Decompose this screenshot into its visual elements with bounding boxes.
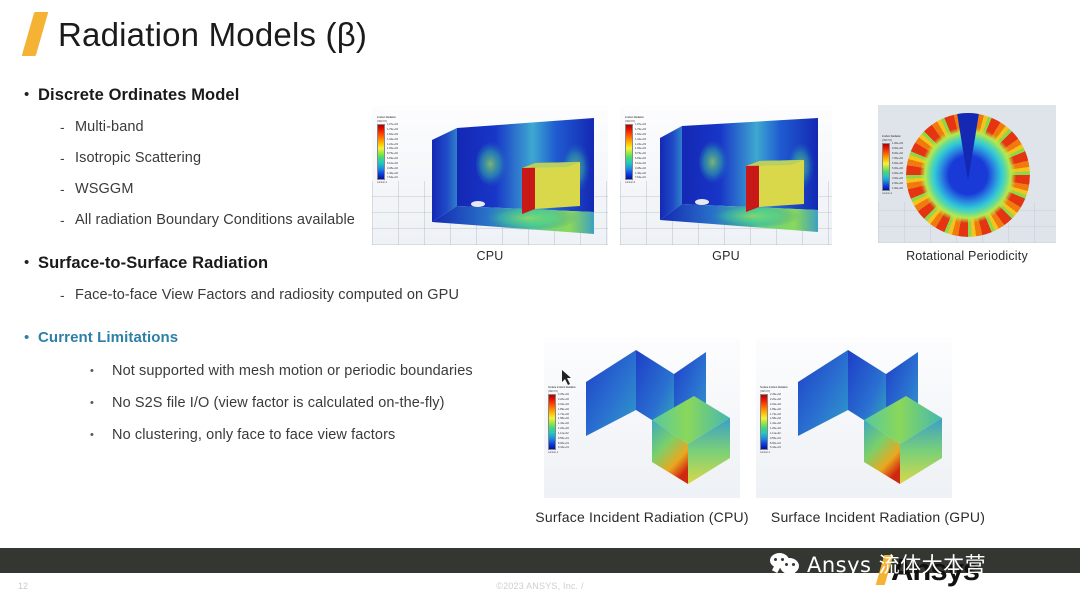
legend-tick: 3.28e+02 <box>635 168 646 171</box>
colorbar-legend-rotational: Incident Radiation [ W/m^2 ] 1.00e+03 9.… <box>882 135 903 195</box>
legend-tick: 1.26e+02 <box>558 428 569 431</box>
legend-tick: 2.00e+02 <box>892 183 903 186</box>
legend-tick: 1.60e+03 <box>635 134 646 137</box>
legend-tick: 5.10e+02 <box>635 163 646 166</box>
legend-tick: 1.26e+02 <box>770 428 781 431</box>
figure-caption-cpu: CPU <box>372 249 608 263</box>
limitation-item-s2s-file-io: • No S2S file I/O (view factor is calcul… <box>90 393 544 413</box>
bullet-item-label: Isotropic Scattering <box>75 148 201 168</box>
legend-tick: 1.11e+02 <box>558 433 569 436</box>
legend-tick: 1.42e+03 <box>387 139 398 142</box>
legend-colorbar <box>548 394 556 450</box>
legend-tick: 1.42e+02 <box>770 423 781 426</box>
legend-tick: 6.93e+02 <box>387 158 398 161</box>
legend-title: Surface Incident Radiation <box>760 386 788 389</box>
wechat-watermark: Ansys 流体大本营 <box>770 549 986 579</box>
legend-tick: 6.44e+01 <box>770 447 781 450</box>
legend-tick: 1.60e+03 <box>387 134 398 137</box>
legend-tick: 1.73e+02 <box>770 414 781 417</box>
legend-tick: 6.44e+01 <box>558 447 569 450</box>
bullet-heading-label: Discrete Ordinates Model <box>38 84 239 106</box>
bullet-dot-icon: • <box>24 327 38 349</box>
figure-surface-incident-cpu: Surface Incident Radiation [ W/m^2 ] 2.3… <box>544 338 740 498</box>
legend-ticks: 1.00e+03 9.00e+02 8.00e+02 7.00e+02 6.00… <box>892 143 903 191</box>
bullet-dot-icon: • <box>24 252 38 274</box>
legend-tick: 2.20e+02 <box>770 399 781 402</box>
page-title: Radiation Models (β) <box>58 18 367 51</box>
sub-bullet-dot-icon: • <box>90 393 112 413</box>
bullet-item-label: Multi-band <box>75 117 144 137</box>
slide-title-row: Radiation Models (β) <box>28 12 367 56</box>
legend-ticks: 2.35e+02 2.20e+02 2.04e+02 1.89e+02 1.73… <box>558 394 569 450</box>
legend-tick: 5.10e+02 <box>387 163 398 166</box>
colorbar-legend-cpu: Incident Radiation [ W/m^2 ] 1.97e+03 1.… <box>377 116 398 184</box>
legend-tick: 8.00e+01 <box>558 443 569 446</box>
legend-tick: 3.00e+02 <box>892 178 903 181</box>
bullet-item-label: All radiation Boundary Conditions availa… <box>75 210 355 230</box>
legend-tick: 4.00e+02 <box>892 173 903 176</box>
limitation-label: Not supported with mesh motion or period… <box>112 361 473 381</box>
figure-gpu-room: Incident Radiation [ W/m^2 ] 1.97e+03 1.… <box>620 106 832 245</box>
dash-glyph-icon: - <box>60 285 75 305</box>
legend-tick: 2.35e+02 <box>558 394 569 397</box>
legend-colorbar <box>760 394 768 450</box>
legend-tick: 1.06e+03 <box>635 148 646 151</box>
legend-ticks: 2.35e+02 2.20e+02 2.04e+02 1.89e+02 1.73… <box>770 394 781 450</box>
legend-tick: 1.58e+02 <box>770 418 781 421</box>
legend-tick: 6.93e+02 <box>635 158 646 161</box>
legend-tick: 1.00e+03 <box>892 143 903 146</box>
legend-tick: 1.97e+03 <box>635 124 646 127</box>
colorbar-legend-gpu: Incident Radiation [ W/m^2 ] 1.97e+03 1.… <box>625 116 646 184</box>
figure-caption-surface-incident-gpu: Surface Incident Radiation (GPU) <box>756 509 1000 525</box>
slide-canvas: Radiation Models (β) • Discrete Ordinate… <box>0 0 1080 608</box>
wechat-icon <box>770 553 800 575</box>
legend-colorbar <box>882 143 890 191</box>
legend-tick: 5.00e+02 <box>892 168 903 171</box>
legend-tick: 7.00e+02 <box>892 158 903 161</box>
legend-ticks: 1.97e+03 1.79e+03 1.60e+03 1.42e+03 1.24… <box>387 124 398 180</box>
legend-tick: 7.64e+01 <box>387 177 398 180</box>
legend-tick: 1.58e+02 <box>558 418 569 421</box>
legend-tick: 8.75e+02 <box>635 153 646 156</box>
legend-tick: 9.55e+01 <box>770 438 781 441</box>
gpu-room-render <box>620 106 832 245</box>
legend-tick: 8.75e+02 <box>387 153 398 156</box>
legend-tick: 2.35e+02 <box>770 394 781 397</box>
legend-title: Surface Incident Radiation <box>548 386 576 389</box>
cpu-room-render <box>372 106 608 245</box>
legend-tick: 1.24e+03 <box>387 144 398 147</box>
dash-glyph-icon: - <box>60 117 75 137</box>
legend-footer: contour-2 <box>625 181 646 184</box>
figure-caption-gpu: GPU <box>620 249 832 263</box>
legend-footer: contour-1 <box>548 451 576 454</box>
legend-tick: 1.79e+03 <box>387 129 398 132</box>
dash-glyph-icon: - <box>60 179 75 199</box>
bullet-item-label: Face-to-face View Factors and radiosity … <box>75 285 459 305</box>
sub-bullet-dot-icon: • <box>90 361 112 381</box>
legend-tick: 1.06e+03 <box>387 148 398 151</box>
legend-tick: 1.73e+02 <box>558 414 569 417</box>
legend-tick: 2.20e+02 <box>558 399 569 402</box>
legend-tick: 1.89e+02 <box>770 409 781 412</box>
legend-tick: 1.46e+02 <box>387 173 398 176</box>
figure-caption-rotational-periodicity: Rotational Periodicity <box>878 249 1056 263</box>
legend-tick: 8.00e+02 <box>892 153 903 156</box>
legend-tick: 1.11e+02 <box>770 433 781 436</box>
bullet-item-label: WSGGM <box>75 179 134 199</box>
legend-tick: 2.04e+02 <box>558 404 569 407</box>
legend-title: Incident Radiation <box>625 116 646 119</box>
legend-tick: 1.46e+02 <box>635 173 646 176</box>
dash-glyph-icon: - <box>60 148 75 168</box>
limitation-item-mesh-motion: • Not supported with mesh motion or peri… <box>90 361 544 381</box>
legend-tick: 8.00e+01 <box>770 443 781 446</box>
legend-colorbar <box>625 124 633 180</box>
colorbar-legend-surface-cpu: Surface Incident Radiation [ W/m^2 ] 2.3… <box>548 386 576 454</box>
bullet-item-view-factors: - Face-to-face View Factors and radiosit… <box>60 285 544 305</box>
figure-cpu-room: Incident Radiation [ W/m^2 ] 1.97e+03 1.… <box>372 106 608 245</box>
legend-tick: 1.79e+03 <box>635 129 646 132</box>
bullet-heading-label: Surface-to-Surface Radiation <box>38 252 268 274</box>
legend-tick: 6.00e+02 <box>892 163 903 166</box>
legend-tick: 9.00e+02 <box>892 148 903 151</box>
bullet-dot-icon: • <box>24 84 38 106</box>
ansys-slash-accent-icon <box>22 12 49 56</box>
bullet-group-current-limitations: • Current Limitations • Not supported wi… <box>24 327 544 445</box>
bullet-heading-label: Current Limitations <box>38 327 178 349</box>
limitation-item-no-clustering: • No clustering, only face to face view … <box>90 425 544 445</box>
disc-notch-wedge <box>957 113 979 181</box>
legend-title: Incident Radiation <box>377 116 398 119</box>
legend-tick: 7.64e+01 <box>635 177 646 180</box>
legend-colorbar <box>377 124 385 180</box>
legend-ticks: 1.97e+03 1.79e+03 1.60e+03 1.42e+03 1.24… <box>635 124 646 180</box>
legend-tick: 1.42e+03 <box>635 139 646 142</box>
sub-bullet-dot-icon: • <box>90 425 112 445</box>
legend-tick: 1.89e+02 <box>558 409 569 412</box>
copyright-notice: ©2023 ANSYS, Inc. / <box>0 581 1080 591</box>
legend-tick: 3.28e+02 <box>387 168 398 171</box>
legend-footer: contour-1 <box>882 192 903 195</box>
bullet-heading-current-limitations: • Current Limitations <box>24 327 544 349</box>
legend-tick: 1.42e+02 <box>558 423 569 426</box>
legend-tick: 1.24e+03 <box>635 144 646 147</box>
legend-tick: 2.04e+02 <box>770 404 781 407</box>
figure-surface-incident-gpu: Surface Incident Radiation [ W/m^2 ] 2.3… <box>756 338 952 498</box>
dash-glyph-icon: - <box>60 210 75 230</box>
figure-caption-surface-incident-cpu: Surface Incident Radiation (CPU) <box>520 509 764 525</box>
figure-rotational-periodicity: Incident Radiation [ W/m^2 ] 1.00e+03 9.… <box>878 105 1056 243</box>
legend-footer: contour-1 <box>377 181 398 184</box>
limitation-label: No clustering, only face to face view fa… <box>112 425 395 445</box>
legend-footer: contour-1 <box>760 451 788 454</box>
legend-tick: 1.00e+02 <box>892 188 903 191</box>
legend-tick: 9.55e+01 <box>558 438 569 441</box>
wechat-watermark-text: Ansys 流体大本营 <box>807 549 986 579</box>
bullet-heading-discrete-ordinates: • Discrete Ordinates Model <box>24 84 544 106</box>
legend-title: Incident Radiation <box>882 135 903 138</box>
colorbar-legend-surface-gpu: Surface Incident Radiation [ W/m^2 ] 2.3… <box>760 386 788 454</box>
limitation-label: No S2S file I/O (view factor is calculat… <box>112 393 445 413</box>
legend-tick: 1.97e+03 <box>387 124 398 127</box>
rotational-disc-render <box>906 113 1030 237</box>
